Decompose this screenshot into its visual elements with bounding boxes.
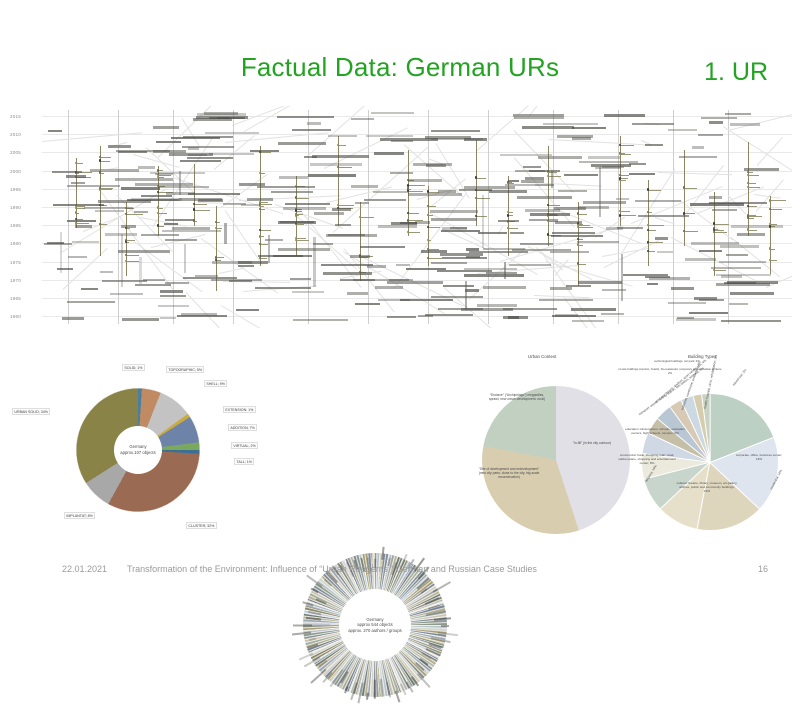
- timeline-entry-label: [165, 239, 197, 241]
- timeline-entry-label: [351, 185, 379, 187]
- timeline-entry-tick: [748, 216, 762, 217]
- timeline-entry-tick: [748, 215, 756, 216]
- pie-slice-micro-label: [292, 625, 311, 627]
- timeline-entry-label: [310, 163, 362, 165]
- timeline-entry-tick: [648, 225, 664, 226]
- timeline-entry-label: [509, 264, 551, 266]
- timeline-entry-label: [108, 145, 131, 147]
- timeline-entry-label: [483, 286, 527, 288]
- timeline-entry-label: [635, 200, 681, 202]
- timeline-connector: [224, 210, 262, 265]
- timeline-entry-label: [583, 201, 625, 203]
- timeline-year-label: 1960: [10, 314, 21, 319]
- timeline-entry-tick: [408, 191, 423, 192]
- timeline-entry-label: [188, 154, 207, 156]
- timeline-entry-node: [619, 214, 621, 216]
- timeline-entry-label: [292, 291, 324, 293]
- timeline-entry-label: [121, 187, 160, 189]
- timeline-entry-label: [68, 256, 87, 258]
- timeline-entry-label: [521, 180, 544, 182]
- timeline-entry-tick: [620, 211, 630, 212]
- timeline-entry-label: [461, 308, 513, 310]
- timeline-entry-label: [72, 241, 100, 243]
- timeline-entry-label: [571, 308, 616, 310]
- timeline-entry-node: [577, 243, 579, 245]
- timeline-entry-label: [579, 161, 638, 163]
- timeline-entry-label: [601, 313, 624, 315]
- timeline-project-spine: [476, 140, 477, 226]
- timeline-entry-label: [558, 190, 587, 192]
- timeline-entry-label: [138, 166, 155, 168]
- timeline-entry-tick: [748, 187, 760, 188]
- timeline-entry-label-vertical: [60, 232, 62, 274]
- timeline-entry-label: [450, 227, 467, 229]
- timeline-entry-label: [360, 246, 405, 248]
- timeline-entry-tick: [428, 227, 440, 228]
- timeline-entry-tick: [338, 167, 352, 168]
- timeline-entry-tick: [714, 232, 727, 233]
- timeline-column-divider: [553, 110, 554, 324]
- timeline-entry-tick: [620, 145, 634, 146]
- timeline-entry-label: [165, 282, 190, 284]
- timeline-entry-label: [523, 166, 540, 168]
- timeline-year-label: 1970: [10, 278, 21, 283]
- pie-callout-label: URBAN SOLID; 34%: [12, 408, 50, 415]
- timeline-entry-label: [550, 251, 589, 253]
- timeline-entry-label: [335, 224, 351, 226]
- timeline-entry-label: [486, 272, 516, 274]
- timeline-entry-label: [209, 153, 254, 155]
- timeline-entry-tick: [620, 175, 629, 176]
- timeline-year-label: 1965: [10, 296, 21, 301]
- timeline-entry-label: [188, 147, 200, 149]
- timeline-entry-label: [464, 186, 515, 188]
- timeline-entry-label-vertical: [621, 254, 623, 300]
- timeline-connector: [394, 194, 467, 289]
- pie-callout-label: IMPLANTAT; 8%: [64, 512, 95, 519]
- timeline-entry-label: [307, 122, 322, 124]
- timeline-entry-label: [171, 137, 220, 139]
- timeline-entry-label: [188, 193, 240, 195]
- timeline-entry-label: [510, 232, 525, 234]
- timeline-entry-label: [431, 262, 467, 264]
- timeline-entry-label: [557, 135, 593, 137]
- timeline-entry-label: [437, 270, 492, 272]
- pie-slice-label: “In-fill” (in the city contour): [562, 442, 622, 446]
- timeline-entry-label: [180, 160, 221, 162]
- timeline-entry-label: [387, 316, 416, 318]
- timeline-entry-node: [713, 222, 715, 224]
- section-label: 1. UR: [704, 58, 768, 87]
- timeline-entry-label: [514, 117, 565, 119]
- timeline-entry-label: [115, 178, 173, 180]
- timeline-entry-label: [211, 279, 262, 281]
- timeline-entry-label-vertical: [482, 195, 484, 248]
- timeline-entry-tick: [578, 264, 586, 265]
- timeline-entry-label: [699, 250, 722, 252]
- timeline-entry-tick: [620, 178, 628, 179]
- timeline-project-spine: [648, 180, 649, 266]
- timeline-entry-label-vertical: [551, 171, 553, 188]
- timeline-entry-label: [250, 150, 279, 152]
- timeline-entry-label: [629, 173, 655, 175]
- pie-callout-label: SHELL; 9%: [204, 380, 227, 387]
- timeline-entry-label: [81, 288, 98, 290]
- timeline-entry-node: [75, 222, 77, 224]
- timeline-entry-label-vertical: [268, 235, 270, 263]
- timeline-entry-label: [441, 230, 480, 232]
- timeline-entry-label: [158, 305, 188, 307]
- timeline-entry-node: [769, 208, 771, 210]
- timeline-connector: [244, 106, 292, 132]
- pie-slice-micro-label: [441, 625, 449, 627]
- timeline-entry-tick: [684, 188, 697, 189]
- timeline-entry-label: [430, 210, 478, 212]
- timeline-entry-label: [350, 255, 370, 257]
- timeline-entry-label: [195, 275, 218, 277]
- timeline-entry-label: [116, 150, 170, 152]
- timeline-entry-label: [716, 274, 771, 276]
- timeline-entry-label: [554, 207, 586, 209]
- timeline-entry-node: [747, 214, 749, 216]
- timeline-entry-label: [374, 152, 404, 154]
- timeline-entry-tick: [648, 242, 661, 243]
- chart-title: Urban Context: [528, 354, 556, 359]
- charts-row: Germanyapprox.107 objectsSOLID; 1%TOPOGR…: [0, 346, 800, 551]
- footer-title: Transformation of the Environment: Influ…: [127, 564, 537, 574]
- timeline-entry-label: [340, 279, 375, 281]
- timeline-entry-label-vertical: [184, 244, 186, 273]
- timeline-year-label: 1990: [10, 205, 21, 210]
- timeline-entry-label: [698, 134, 723, 136]
- timeline-entry-tick: [76, 223, 89, 224]
- timeline-gridline: [42, 134, 792, 135]
- timeline-year-label: 1975: [10, 260, 21, 265]
- timeline-entry-label: [431, 218, 477, 220]
- timeline-gridline: [42, 207, 792, 208]
- timeline-entry-tick: [158, 175, 171, 176]
- timeline-entry-label: [279, 176, 308, 178]
- timeline-entry-label: [668, 129, 697, 131]
- timeline-entry-label: [304, 156, 317, 158]
- timeline-entry-tick: [548, 176, 561, 177]
- footer-page-number: 16: [758, 564, 768, 574]
- timeline-entry-node: [577, 262, 579, 264]
- timeline-entry-label: [66, 175, 86, 177]
- timeline-entry-label: [543, 123, 598, 125]
- timeline-entry-node: [547, 233, 549, 235]
- timeline-entry-node: [507, 214, 509, 216]
- timeline-entry-label: [730, 292, 774, 294]
- timeline-entry-tick: [100, 189, 112, 190]
- timeline-entry-label: [110, 293, 143, 295]
- timeline-entry-label: [371, 112, 415, 114]
- timeline-entry-label: [724, 282, 756, 284]
- timeline-entry-label: [160, 290, 183, 292]
- timeline-entry-label: [425, 136, 471, 138]
- timeline-entry-label-vertical: [465, 281, 467, 310]
- timeline-entry-tick: [770, 209, 782, 210]
- timeline-entry-label: [255, 287, 312, 289]
- timeline-entry-label: [141, 195, 171, 197]
- timeline-entry-label: [290, 278, 310, 280]
- timeline-entry-label: [552, 232, 594, 234]
- slide-footer: 22.01.2021 Transformation of the Environ…: [0, 564, 800, 588]
- timeline-entry-label: [204, 112, 237, 114]
- timeline-entry-label: [538, 156, 582, 158]
- chart-pie-building-types: Building Typescorporate, office, busines…: [618, 350, 798, 546]
- timeline-entry-node: [295, 196, 297, 198]
- timeline-entry-node: [99, 159, 101, 161]
- timeline-entry-label-vertical: [599, 167, 601, 216]
- timeline-entry-node: [193, 208, 195, 210]
- timeline-entry-node: [769, 199, 771, 201]
- timeline-entry-label: [442, 257, 487, 259]
- timeline-entry-label: [459, 189, 492, 191]
- timeline-entry-label: [387, 281, 444, 283]
- timeline-entry-label: [150, 172, 205, 174]
- timeline-entry-tick: [748, 206, 757, 207]
- timeline-entry-tick: [476, 178, 486, 179]
- timeline-entry-label: [726, 254, 748, 256]
- timeline-entry-label: [709, 196, 722, 198]
- timeline-entry-node: [407, 187, 409, 189]
- timeline-entry-label: [375, 286, 403, 288]
- timeline-entry-label: [134, 211, 149, 213]
- timeline-entry-label: [67, 220, 96, 222]
- timeline-entry-tick: [748, 230, 757, 231]
- pie-callout-label: VIRTUAL; 2%: [231, 442, 258, 449]
- timeline-entry-label: [566, 285, 591, 287]
- timeline-entry-tick: [508, 228, 518, 229]
- timeline-entry-node: [475, 215, 477, 217]
- timeline-entry-label: [313, 243, 333, 245]
- timeline-entry-label: [572, 137, 591, 139]
- timeline-entry-label: [160, 317, 176, 319]
- pie-slice-label: education: kindergarten, schools, educat…: [624, 428, 686, 436]
- timeline-entry-label: [67, 185, 121, 187]
- timeline-entry-label: [52, 171, 82, 173]
- pie-slice-label: “Site of development and redevelopment” …: [478, 468, 540, 480]
- pie-slice-label: “Enclave” (“Archipelago”) megacities, sp…: [488, 394, 546, 402]
- timeline-diagram: 2015201020052000199519901985198019751970…: [8, 106, 792, 328]
- timeline-entry-label: [617, 227, 643, 229]
- timeline-entry-label: [691, 242, 739, 244]
- pie-slice-label: mixed-use; 3%: [732, 369, 748, 388]
- timeline-gridline: [42, 262, 792, 263]
- timeline-entry-label: [223, 203, 246, 205]
- timeline-entry-label: [668, 302, 706, 304]
- pie-slice-micro-label: [366, 693, 368, 701]
- timeline-entry-tick: [296, 238, 306, 239]
- timeline-entry-tick: [158, 213, 167, 214]
- timeline-entry-node: [619, 177, 621, 179]
- timeline-entry-label: [236, 309, 259, 311]
- timeline-entry-label: [616, 198, 629, 200]
- timeline-entry-label: [292, 129, 331, 131]
- pie-callout-label: SOLID; 1%: [122, 364, 145, 371]
- timeline-entry-tick: [714, 224, 729, 225]
- timeline-entry-tick: [100, 224, 107, 225]
- pie-slice-micro-label: [374, 679, 376, 698]
- slide-root: Factual Data: German URs 1. UR 201520102…: [0, 0, 800, 600]
- timeline-gridline: [42, 243, 792, 244]
- timeline-entry-tick: [770, 260, 777, 261]
- timeline-entry-label: [100, 271, 113, 273]
- timeline-entry-label: [431, 296, 483, 298]
- timeline-column-divider: [68, 110, 69, 324]
- timeline-entry-label: [443, 285, 475, 287]
- timeline-entry-label: [160, 295, 186, 297]
- timeline-entry-label: [131, 198, 182, 200]
- timeline-entry-label: [122, 318, 160, 320]
- timeline-entry-label: [312, 155, 369, 157]
- donut-center-line: approx. 270 authors / groups: [348, 628, 402, 634]
- timeline-entry-tick: [126, 214, 143, 215]
- timeline-entry-label: [355, 202, 370, 204]
- timeline-column-divider: [673, 110, 674, 324]
- pie-callout-label: ADDITION; 7%: [228, 424, 257, 431]
- timeline-entry-label: [737, 233, 765, 235]
- timeline-year-label: 1995: [10, 187, 21, 192]
- timeline-year-label: 2010: [10, 132, 21, 137]
- timeline-entry-label: [367, 265, 386, 267]
- timeline-entry-label: [396, 264, 411, 266]
- timeline-entry-tick: [408, 185, 425, 186]
- chart-pie-urban-context: Urban Context“In-fill” (in the city cont…: [476, 350, 636, 546]
- timeline-entry-tick: [260, 202, 268, 203]
- timeline-entry-label: [415, 221, 431, 223]
- timeline-entry-label: [730, 123, 760, 125]
- timeline-entry-tick: [216, 257, 224, 258]
- timeline-entry-label: [347, 292, 367, 294]
- timeline-entry-label: [164, 223, 179, 225]
- timeline-entry-label: [692, 146, 704, 148]
- timeline-entry-label: [719, 261, 767, 263]
- timeline-entry-label: [408, 193, 462, 195]
- timeline-entry-tick: [548, 205, 560, 206]
- timeline-entry-tick: [260, 258, 267, 259]
- timeline-entry-label: [632, 123, 674, 125]
- timeline-entry-label: [95, 210, 124, 212]
- timeline-entry-label: [503, 316, 528, 318]
- timeline-entry-label: [172, 227, 210, 229]
- timeline-entry-label: [694, 297, 717, 299]
- timeline-entry-tick: [408, 213, 419, 214]
- timeline-entry-label: [522, 126, 574, 128]
- timeline-entry-label: [390, 172, 413, 174]
- timeline-entry-label: [421, 250, 447, 252]
- timeline-entry-tick: [428, 192, 439, 193]
- timeline-entry-label: [238, 265, 254, 267]
- timeline-entry-node: [75, 211, 77, 213]
- pie-slice-label: on-site buildings (tourism, hotels), bio…: [618, 368, 722, 376]
- timeline-entry-label: [709, 121, 724, 123]
- timeline-entry-label: [413, 163, 452, 165]
- timeline-entry-label: [277, 116, 334, 118]
- timeline-entry-label: [489, 190, 527, 192]
- timeline-entry-node: [475, 176, 477, 178]
- timeline-entry-label: [141, 234, 179, 236]
- timeline-entry-label: [323, 272, 372, 274]
- pie-slice-label: cultural: theatre, library, museum, art …: [676, 482, 738, 494]
- timeline-entry-label: [711, 267, 762, 269]
- timeline-gridline: [42, 116, 792, 117]
- timeline-entry-label: [332, 208, 351, 210]
- timeline-entry-tick: [194, 210, 204, 211]
- timeline-entry-label: [378, 225, 417, 227]
- timeline-entry-label-vertical: [139, 257, 141, 285]
- timeline-entry-tick: [648, 230, 656, 231]
- timeline-entry-label-vertical: [504, 262, 506, 279]
- footer-date: 22.01.2021: [62, 564, 107, 574]
- timeline-entry-label: [156, 141, 181, 143]
- pie-slices: [482, 386, 630, 534]
- timeline-project-spine: [748, 142, 749, 236]
- timeline-entry-tick: [100, 157, 111, 158]
- timeline-entry-label: [638, 215, 689, 217]
- timeline-entry-tick: [714, 270, 726, 271]
- timeline-entry-label: [530, 213, 569, 215]
- timeline-entry-label: [729, 303, 748, 305]
- timeline-entry-tick: [100, 161, 110, 162]
- timeline-entry-label: [577, 241, 619, 243]
- timeline-year-label: 2005: [10, 150, 21, 155]
- timeline-entry-tick: [684, 231, 694, 232]
- timeline-entry-node: [647, 188, 649, 190]
- timeline-entry-label: [48, 130, 63, 132]
- timeline-entry-label: [465, 289, 480, 291]
- timeline-entry-label: [90, 169, 139, 171]
- timeline-entry-label: [62, 317, 84, 319]
- timeline-entry-node: [769, 247, 771, 249]
- pie-callout-label: TALL; 1%: [234, 458, 254, 465]
- chart-donut-typology: Germanyapprox.107 objectsSOLID; 1%TOPOGR…: [18, 362, 248, 537]
- timeline-entry-label: [551, 235, 603, 237]
- timeline-entry-label: [351, 118, 374, 120]
- timeline-entry-label: [701, 117, 737, 119]
- timeline-entry-tick: [408, 232, 420, 233]
- timeline-entry-label: [720, 245, 759, 247]
- timeline-project-spine: [360, 202, 361, 281]
- timeline-entry-label: [725, 113, 751, 115]
- timeline-entry-label: [508, 180, 520, 182]
- timeline-entry-label: [655, 237, 668, 239]
- timeline-entry-label: [280, 221, 313, 223]
- timeline-entry-tick: [260, 152, 271, 153]
- timeline-entry-label: [588, 156, 620, 158]
- timeline-entry-label: [555, 221, 583, 223]
- timeline-entry-label: [550, 287, 572, 289]
- timeline-entry-label: [314, 212, 344, 214]
- timeline-entry-label: [671, 287, 694, 289]
- timeline-connector: [219, 268, 245, 275]
- timeline-entry-label: [529, 170, 559, 172]
- timeline-entry-label: [685, 258, 715, 260]
- timeline-entry-tick: [338, 205, 354, 206]
- timeline-entry-label: [731, 225, 783, 227]
- timeline-entry-node: [683, 186, 685, 188]
- donut-center-line: approx.107 objects: [120, 450, 155, 456]
- timeline-entry-label: [517, 196, 572, 198]
- timeline-entry-label: [373, 191, 409, 193]
- timeline-year-label: 1980: [10, 241, 21, 246]
- timeline-entry-tick: [360, 217, 374, 218]
- timeline-connector: [549, 139, 650, 146]
- pie-slice-divider: [710, 394, 711, 462]
- timeline-entry-label: [326, 234, 377, 236]
- timeline-entry-label: [71, 182, 86, 184]
